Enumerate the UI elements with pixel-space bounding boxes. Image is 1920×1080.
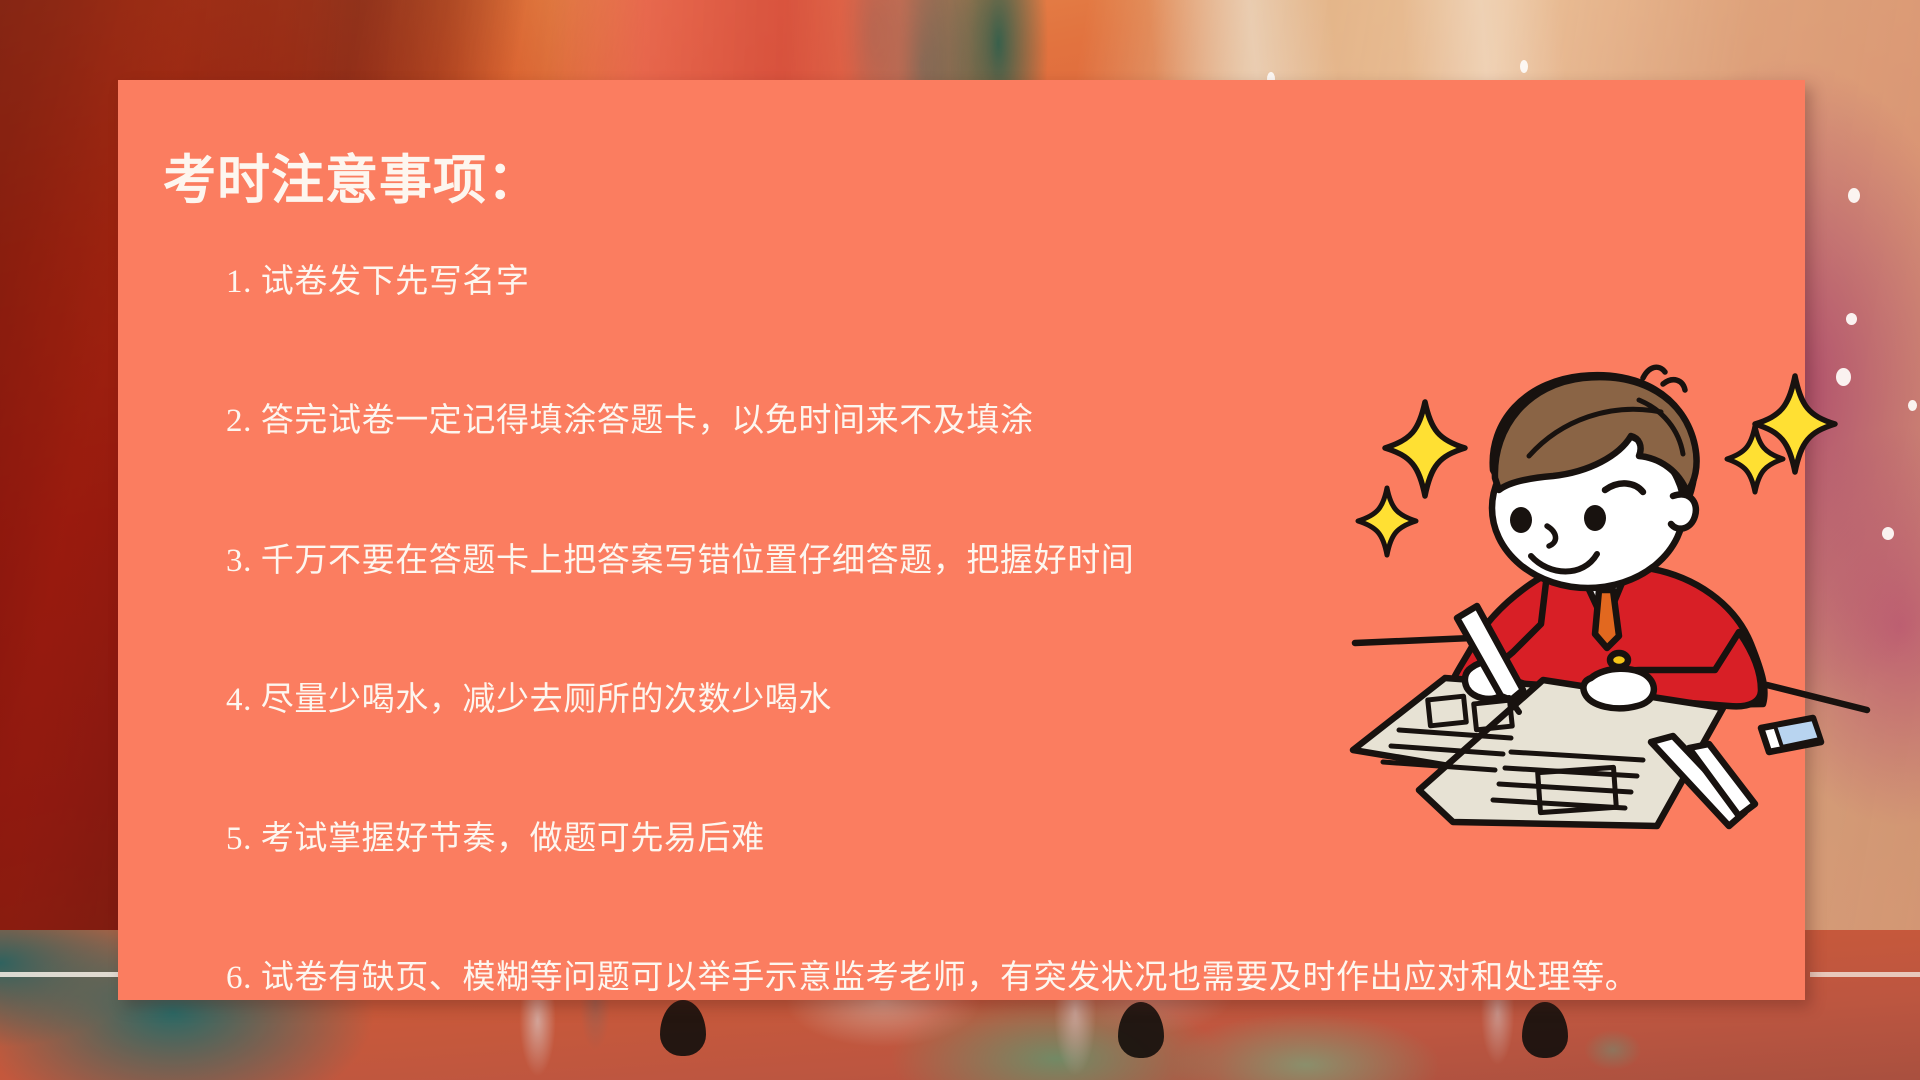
sparkle-icon bbox=[1358, 488, 1416, 555]
background-rule-right bbox=[1810, 972, 1920, 977]
student-eye-right bbox=[1584, 505, 1606, 531]
background-rule-left bbox=[0, 972, 122, 977]
student-ear bbox=[1671, 494, 1696, 528]
content-panel: 考时注意事项： 1. 试卷发下先写名字 2. 答完试卷一定记得填涂答题卡，以免时… bbox=[118, 80, 1805, 1000]
page-title: 考时注意事项： bbox=[163, 152, 541, 211]
list-item: 6. 试卷有缺页、模糊等问题可以举手示意监考老师，有突发状况也需要及时作出应对和… bbox=[226, 958, 1786, 999]
background-dot bbox=[1846, 313, 1857, 325]
list-item: 1. 试卷发下先写名字 bbox=[226, 262, 1786, 303]
background-dot bbox=[1520, 60, 1528, 73]
student-taking-exam-illustration bbox=[1343, 360, 1903, 830]
student-jacket-button bbox=[1610, 653, 1628, 667]
student-hand-right bbox=[1583, 669, 1653, 709]
student-tie bbox=[1595, 590, 1619, 648]
desk-edge-right bbox=[1767, 685, 1867, 710]
background-dot bbox=[1848, 188, 1860, 203]
student-eye-left bbox=[1510, 507, 1532, 533]
sparkle-icon bbox=[1385, 402, 1465, 496]
slide-root: 考时注意事项： 1. 试卷发下先写名字 2. 答完试卷一定记得填涂答题卡，以免时… bbox=[0, 0, 1920, 1080]
background-dot bbox=[1908, 400, 1917, 411]
